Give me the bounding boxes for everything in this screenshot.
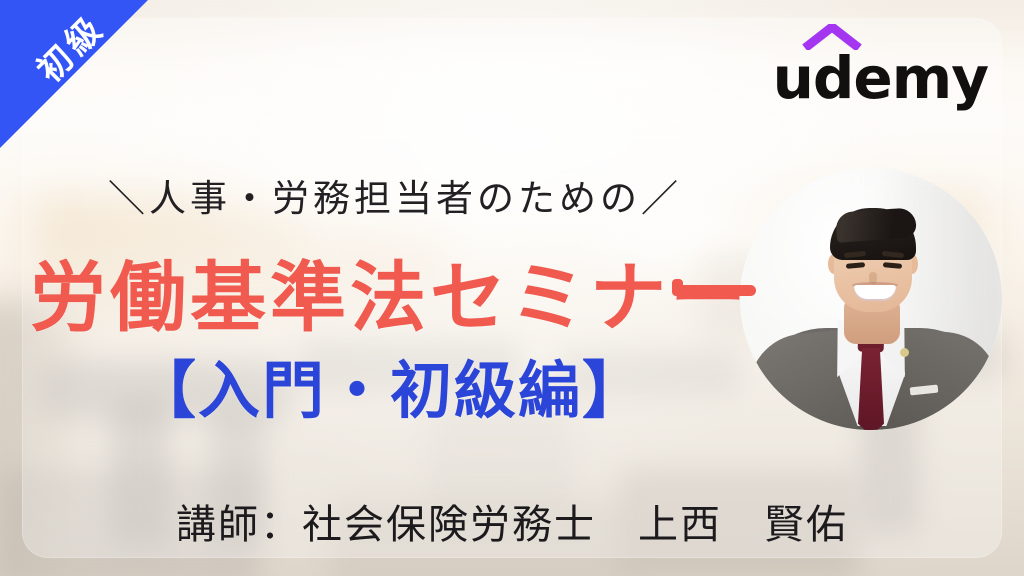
udemy-wordmark: udemy — [773, 49, 988, 107]
instructor-avatar — [740, 168, 1002, 430]
course-banner: ＼人事・労務担当者のための／ 労働基準法セミナー 【入門・初級編】 講師：社会保… — [0, 0, 1024, 576]
avatar-hair-sweep — [835, 207, 917, 243]
avatar-smile — [854, 285, 896, 301]
level-ribbon: 初級 — [0, 0, 150, 150]
headline-stroke-extension — [672, 285, 756, 296]
avatar-tie — [858, 348, 884, 430]
avatar-lapel-pin — [900, 348, 909, 357]
udemy-logo: udemy — [773, 24, 988, 107]
